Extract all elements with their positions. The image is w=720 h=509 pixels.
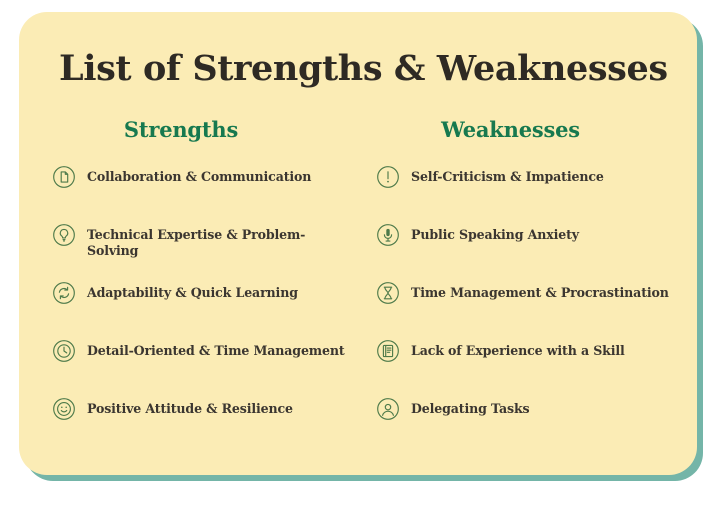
list-item-label: Delegating Tasks	[411, 400, 529, 417]
smiley-face-icon	[52, 397, 76, 421]
list-item: Adaptability & Quick Learning	[52, 284, 346, 342]
list-item: Collaboration & Communication	[52, 168, 346, 226]
list-item-label: Technical Expertise & Problem-Solving	[87, 226, 346, 259]
weaknesses-column: Weaknesses Self-Criticism & Impatience	[358, 117, 697, 458]
list-item-label: Time Management & Procrastination	[411, 284, 669, 301]
list-item: Detail-Oriented & Time Management	[52, 342, 346, 400]
list-item-label: Positive Attitude & Resilience	[87, 400, 293, 417]
list-item: Public Speaking Anxiety	[376, 226, 689, 284]
list-item-label: Self-Criticism & Impatience	[411, 168, 604, 185]
list-item-label: Lack of Experience with a Skill	[411, 342, 625, 359]
strengths-weaknesses-card: List of Strengths & Weaknesses Strengths	[19, 12, 697, 475]
columns-container: Strengths Collaboration & Communication	[19, 117, 697, 458]
list-item-label: Collaboration & Communication	[87, 168, 311, 185]
page-title: List of Strengths & Weaknesses	[59, 48, 659, 89]
clock-icon	[52, 339, 76, 363]
canvas: List of Strengths & Weaknesses Strengths	[0, 0, 720, 509]
list-item: Delegating Tasks	[376, 400, 689, 458]
list-item: Positive Attitude & Resilience	[52, 400, 346, 458]
refresh-icon	[52, 281, 76, 305]
strengths-column: Strengths Collaboration & Communication	[19, 117, 358, 458]
lightbulb-icon	[52, 223, 76, 247]
exclamation-icon	[376, 165, 400, 189]
strengths-column-header: Strengths	[52, 117, 346, 142]
weaknesses-list: Self-Criticism & Impatience Public Speak…	[376, 168, 689, 458]
microphone-icon	[376, 223, 400, 247]
hourglass-icon	[376, 281, 400, 305]
document-icon	[52, 165, 76, 189]
list-item: Self-Criticism & Impatience	[376, 168, 689, 226]
strengths-list: Collaboration & Communication Technical …	[52, 168, 346, 458]
list-item: Lack of Experience with a Skill	[376, 342, 689, 400]
list-item-label: Detail-Oriented & Time Management	[87, 342, 345, 359]
list-item: Time Management & Procrastination	[376, 284, 689, 342]
list-item: Technical Expertise & Problem-Solving	[52, 226, 346, 284]
list-item-label: Adaptability & Quick Learning	[87, 284, 298, 301]
list-item-label: Public Speaking Anxiety	[411, 226, 579, 243]
person-icon	[376, 397, 400, 421]
weaknesses-column-header: Weaknesses	[376, 117, 689, 142]
book-icon	[376, 339, 400, 363]
